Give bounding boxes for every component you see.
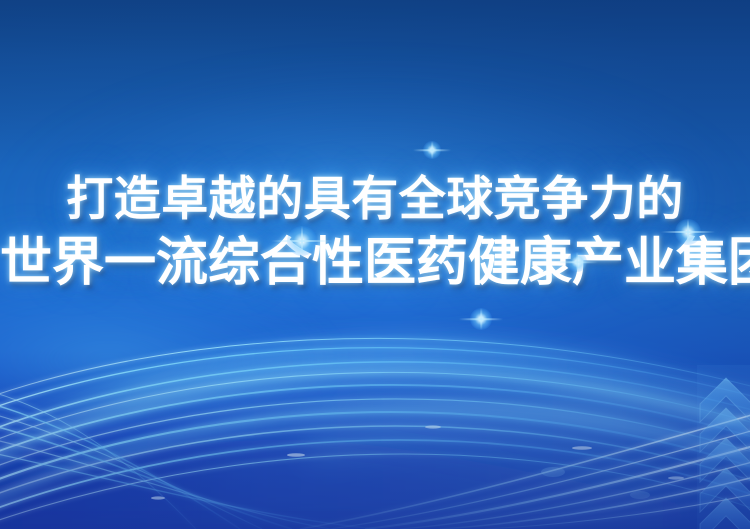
bottom-shade-overlay: [0, 349, 750, 529]
corporate-vision-banner: 打造卓越的具有全球竞争力的 世界一流综合性医药健康产业集团: [0, 0, 750, 529]
